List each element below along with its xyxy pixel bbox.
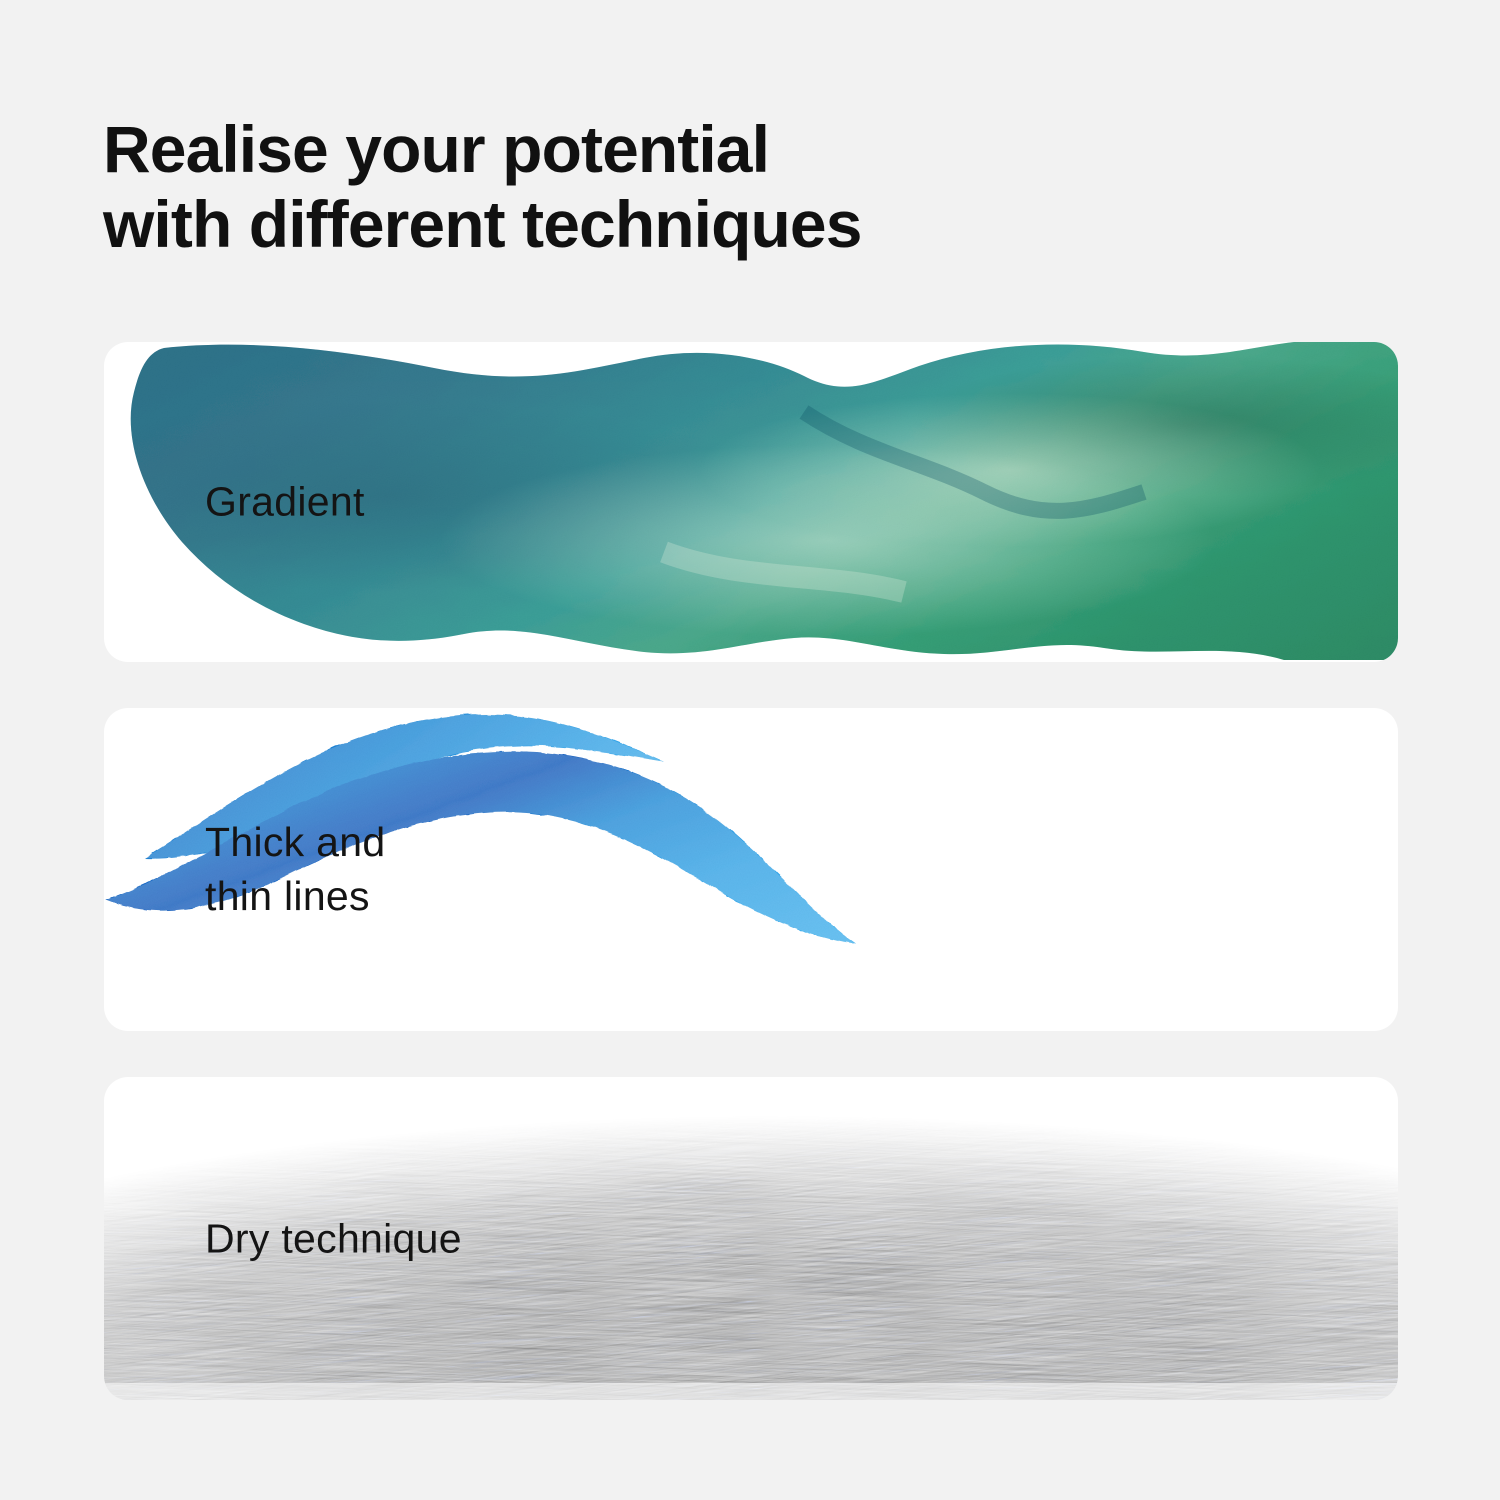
page-title: Realise your potential with different te… [103, 112, 1283, 261]
technique-card-list: Gradient [104, 342, 1398, 1400]
card-label-thick-thin-lines: Thick and thin lines [205, 815, 385, 925]
technique-card-thick-thin-lines[interactable]: Thick and thin lines [104, 708, 1398, 1031]
page-root: Realise your potential with different te… [0, 0, 1500, 1500]
card-label-gradient: Gradient [205, 475, 365, 530]
technique-card-gradient[interactable]: Gradient [104, 342, 1398, 662]
technique-card-dry-technique[interactable]: Dry technique [104, 1077, 1398, 1400]
card-label-dry-technique: Dry technique [205, 1211, 462, 1266]
